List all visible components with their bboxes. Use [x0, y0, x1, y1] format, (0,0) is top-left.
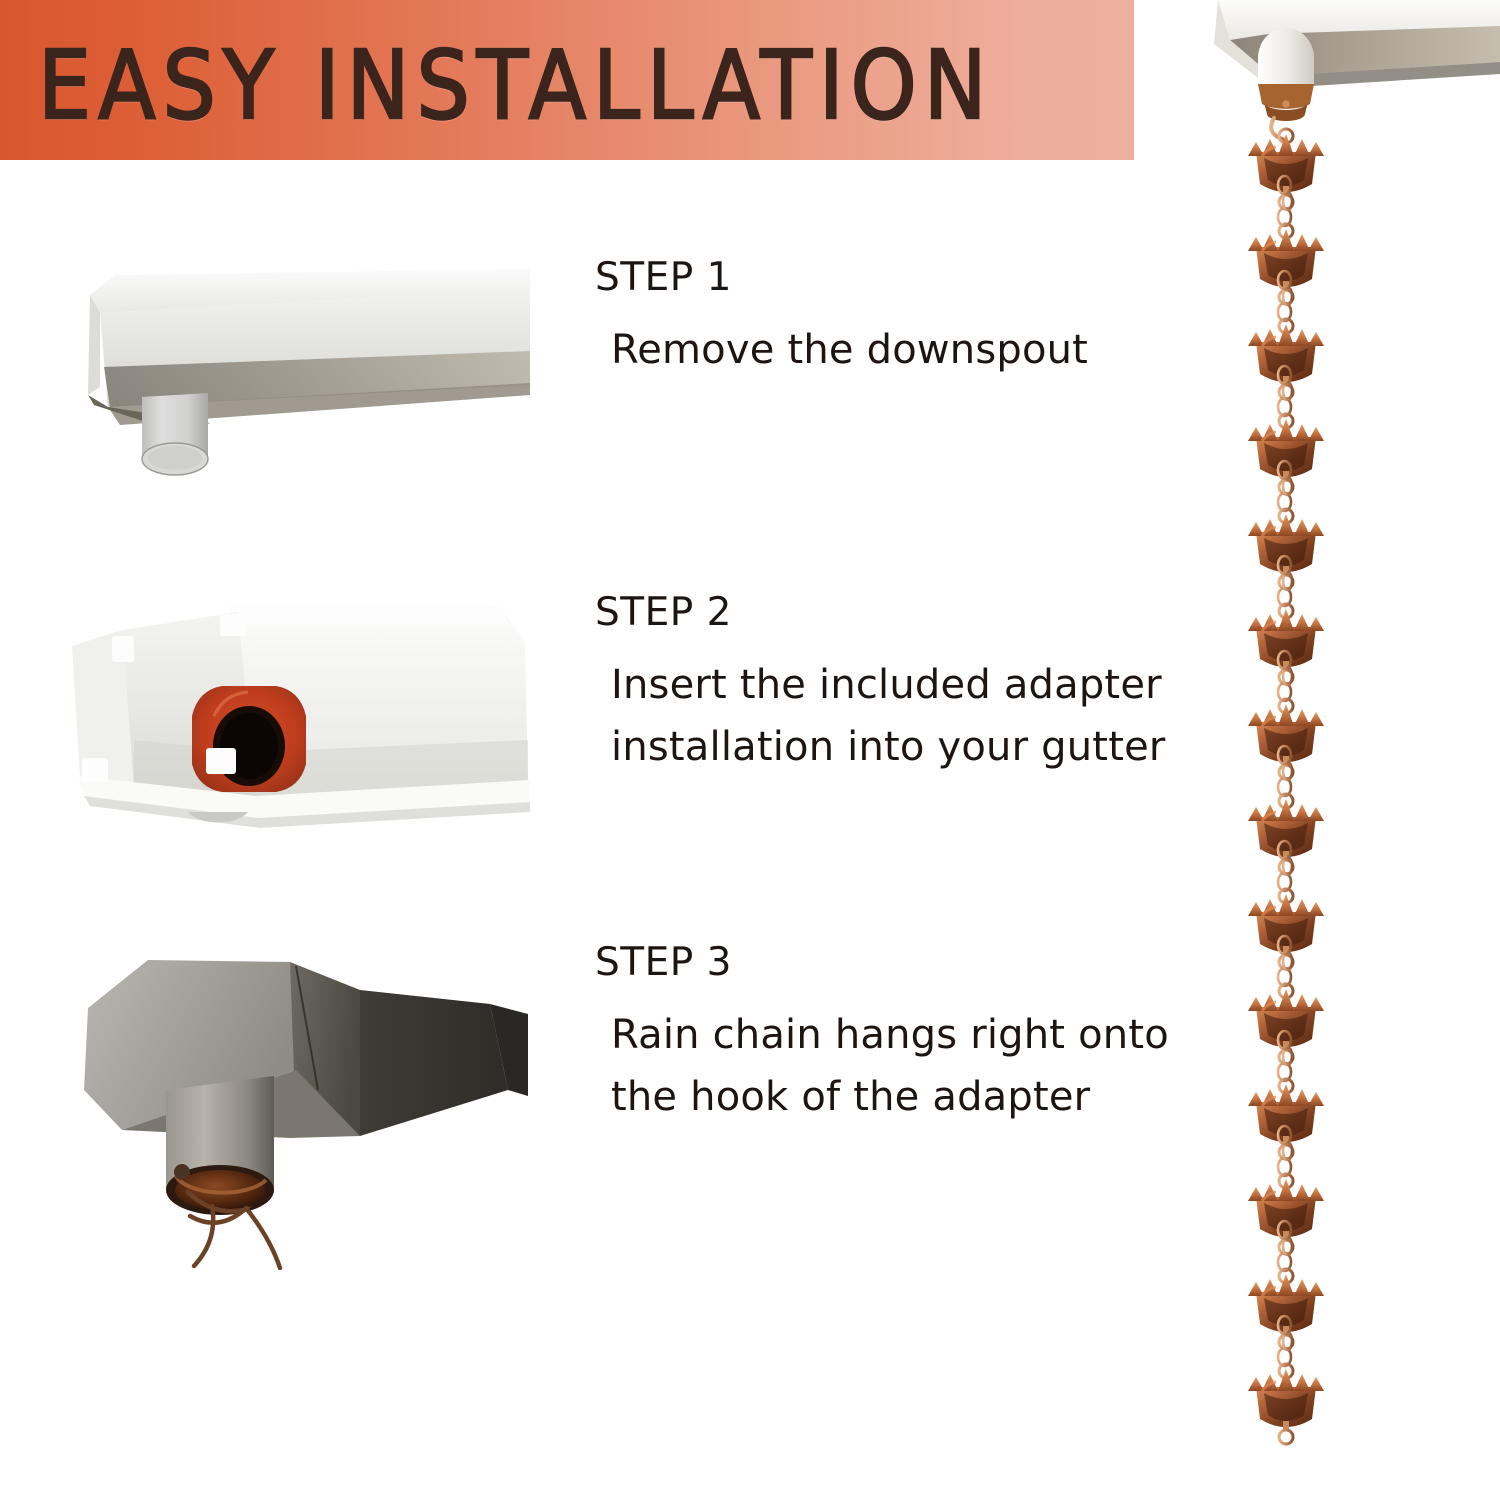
step-2-line-2: installation into your gutter: [595, 716, 1175, 778]
tulip-petal: [1308, 997, 1324, 1011]
chain-units: [1248, 129, 1324, 1444]
tulip-petal: [1308, 712, 1324, 726]
tulip-petal: [1294, 519, 1310, 536]
header-banner: EASY INSTALLATION: [0, 0, 1134, 160]
step-row: STEP 3 Rain chain hangs right onto the h…: [0, 940, 1190, 1300]
tulip-petal: [1248, 237, 1264, 251]
tulip-petal: [1294, 329, 1310, 346]
step-2-line-1: Insert the included adapter: [595, 654, 1175, 716]
tulip-petal: [1294, 994, 1310, 1011]
tulip-petal: [1248, 1377, 1264, 1391]
tulip-petal: [1308, 1282, 1324, 1296]
tulip-petal: [1294, 614, 1310, 631]
tulip-petal: [1308, 1092, 1324, 1106]
tulip-petal: [1248, 617, 1264, 631]
tulip-petal: [1294, 1089, 1310, 1106]
tulip-petal: [1308, 902, 1324, 916]
page-title: EASY INSTALLATION: [38, 26, 994, 145]
tulip-petal: [1308, 427, 1324, 441]
rain-chain-photo: [1210, 0, 1500, 1487]
tulip-petal: [1294, 234, 1310, 251]
tulip-petal: [1248, 807, 1264, 821]
tulip-petal: [1308, 237, 1324, 251]
step-row: STEP 1 Remove the downspout: [0, 255, 1190, 545]
step-1-line-1: Remove the downspout: [595, 319, 1175, 381]
rain-chain-cup-unit: [1248, 129, 1324, 209]
tulip-petal: [1308, 1377, 1324, 1391]
tulip-petal: [1248, 1282, 1264, 1296]
step-row: STEP 2 Insert the included adapter insta…: [0, 590, 1190, 890]
tulip-petal: [1248, 902, 1264, 916]
gutter-end-cap: [1214, 0, 1500, 121]
chain-connector-ring: [1279, 1430, 1293, 1444]
tulip-petal: [1294, 139, 1310, 156]
step-3-photo: [60, 940, 530, 1270]
step-3-label: STEP 3: [595, 940, 1175, 986]
step-1-text: STEP 1 Remove the downspout: [595, 255, 1175, 381]
tulip-petal: [1248, 1092, 1264, 1106]
step-3-line-2: the hook of the adapter: [595, 1066, 1175, 1128]
tulip-petal: [1308, 807, 1324, 821]
step-3-body: Rain chain hangs right onto the hook of …: [595, 1004, 1175, 1128]
step-1-body: Remove the downspout: [595, 319, 1175, 381]
step-2-photo: [60, 590, 530, 830]
step-2-body: Insert the included adapter installation…: [595, 654, 1175, 778]
tulip-petal: [1248, 712, 1264, 726]
tulip-petal: [1248, 427, 1264, 441]
tulip-petal: [1294, 1184, 1310, 1201]
tulip-petal: [1308, 617, 1324, 631]
step-3-text: STEP 3 Rain chain hangs right onto the h…: [595, 940, 1175, 1128]
tulip-petal: [1248, 997, 1264, 1011]
tulip-petal: [1294, 899, 1310, 916]
tulip-petal: [1248, 332, 1264, 346]
tulip-petal: [1308, 332, 1324, 346]
tulip-petal: [1294, 804, 1310, 821]
tulip-petal: [1308, 522, 1324, 536]
steps-section: STEP 1 Remove the downspout: [0, 160, 1190, 1487]
tulip-petal: [1294, 709, 1310, 726]
step-2-text: STEP 2 Insert the included adapter insta…: [595, 590, 1175, 778]
tulip-petal: [1294, 1279, 1310, 1296]
step-1-photo: [60, 255, 530, 505]
step-3-line-1: Rain chain hangs right onto: [595, 1004, 1175, 1066]
tulip-petal: [1248, 142, 1264, 156]
step-2-label: STEP 2: [595, 590, 1175, 636]
tulip-petal: [1294, 1374, 1310, 1391]
tulip-petal: [1248, 522, 1264, 536]
tulip-petal: [1248, 1187, 1264, 1201]
step-1-label: STEP 1: [595, 255, 1175, 301]
tulip-petal: [1294, 424, 1310, 441]
tulip-petal: [1308, 1187, 1324, 1201]
tulip-petal: [1308, 142, 1324, 156]
